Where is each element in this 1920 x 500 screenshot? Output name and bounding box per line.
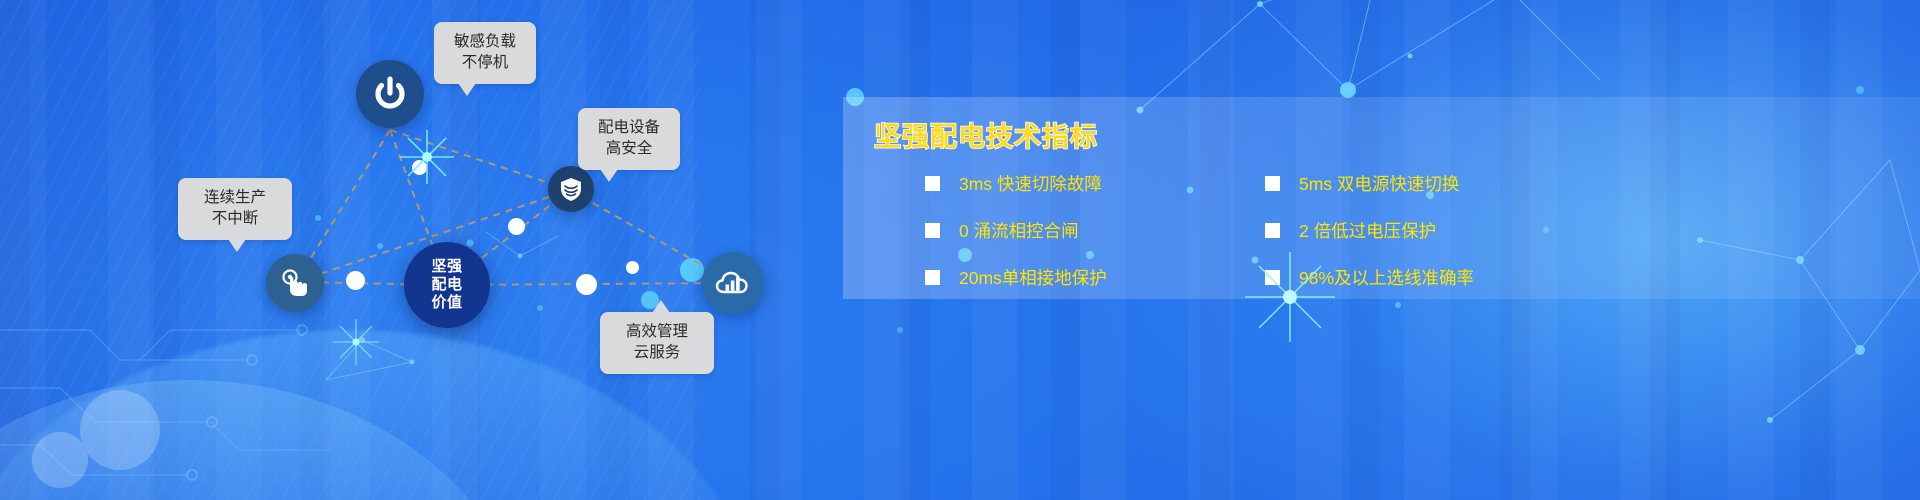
callout-tip: [652, 300, 670, 313]
bullet-square-icon: [925, 176, 940, 191]
bullet-square-icon: [1265, 176, 1280, 191]
center-label-line-2: 配电: [431, 276, 462, 294]
node-shield[interactable]: [548, 166, 594, 212]
node-cloud-analytics[interactable]: [702, 252, 764, 314]
callout-line-2: 不停机: [448, 53, 522, 74]
touch-hand-icon: [278, 266, 312, 300]
power-icon: [371, 75, 409, 113]
cloud-bar-chart-icon: [713, 263, 753, 303]
sparkle-icon: [1245, 252, 1335, 342]
spec-item[interactable]: 3ms 快速切除故障: [925, 171, 1265, 196]
callout-line-1: 连续生产: [192, 188, 278, 209]
node-touch-hand[interactable]: [266, 254, 324, 312]
callout-line-1: 高效管理: [614, 322, 700, 343]
tech-spec-panel: 坚强配电技术指标 3ms 快速切除故障 5ms 双电源快速切换 0 涌流相控合闸…: [843, 97, 1920, 299]
callout-tip: [458, 83, 476, 96]
callout-line-1: 配电设备: [592, 118, 666, 139]
callout-continuous-production[interactable]: 连续生产 不中断: [178, 178, 292, 240]
callout-line-2: 高安全: [592, 139, 666, 160]
bullet-square-icon: [1265, 223, 1280, 238]
spec-list: 3ms 快速切除故障 5ms 双电源快速切换 0 涌流相控合闸 2 倍低过电压保…: [925, 171, 1885, 290]
spec-label: 3ms 快速切除故障: [959, 171, 1102, 196]
connector-dot: [576, 274, 597, 295]
callout-cloud-service[interactable]: 高效管理 云服务: [600, 312, 714, 374]
connector-dot: [626, 261, 639, 274]
bullet-square-icon: [925, 223, 940, 238]
spec-item[interactable]: 5ms 双电源快速切换: [1265, 171, 1605, 196]
spec-label: 2 倍低过电压保护: [1299, 218, 1436, 243]
spec-item[interactable]: 0 涌流相控合闸: [925, 218, 1265, 243]
callout-line-2: 云服务: [614, 343, 700, 364]
banner-stage: 坚强 配电 价值 敏感负载 不停机 配电设备 高安全 连续生产 不中断 高效管理…: [0, 0, 1920, 500]
connector-dot: [412, 160, 427, 175]
callout-tip: [228, 239, 246, 252]
callout-tip: [600, 169, 618, 182]
center-label-line-1: 坚强: [431, 258, 462, 276]
callout-line-2: 不中断: [192, 209, 278, 230]
callout-sensitive-load[interactable]: 敏感负载 不停机: [434, 22, 536, 84]
connector-dot: [508, 218, 525, 235]
center-node-core-value[interactable]: 坚强 配电 价值: [404, 242, 490, 328]
node-power[interactable]: [356, 60, 424, 128]
center-node-label: 坚强 配电 价值: [431, 258, 462, 311]
callout-equipment-safety[interactable]: 配电设备 高安全: [578, 108, 680, 170]
callout-line-1: 敏感负载: [448, 32, 522, 53]
shield-icon: [558, 176, 584, 202]
bullet-square-icon: [925, 270, 940, 285]
spec-item[interactable]: 2 倍低过电压保护: [1265, 218, 1605, 243]
spec-label: 20ms单相接地保护: [959, 265, 1107, 290]
center-label-line-3: 价值: [431, 294, 462, 312]
connector-dot: [346, 271, 365, 290]
spec-label: 5ms 双电源快速切换: [1299, 171, 1459, 196]
spec-label: 0 涌流相控合闸: [959, 218, 1079, 243]
panel-title: 坚强配电技术指标: [874, 115, 1098, 154]
spec-item[interactable]: 20ms单相接地保护: [925, 265, 1265, 290]
value-network-diagram: 坚强 配电 价值 敏感负载 不停机 配电设备 高安全 连续生产 不中断 高效管理…: [0, 0, 840, 500]
